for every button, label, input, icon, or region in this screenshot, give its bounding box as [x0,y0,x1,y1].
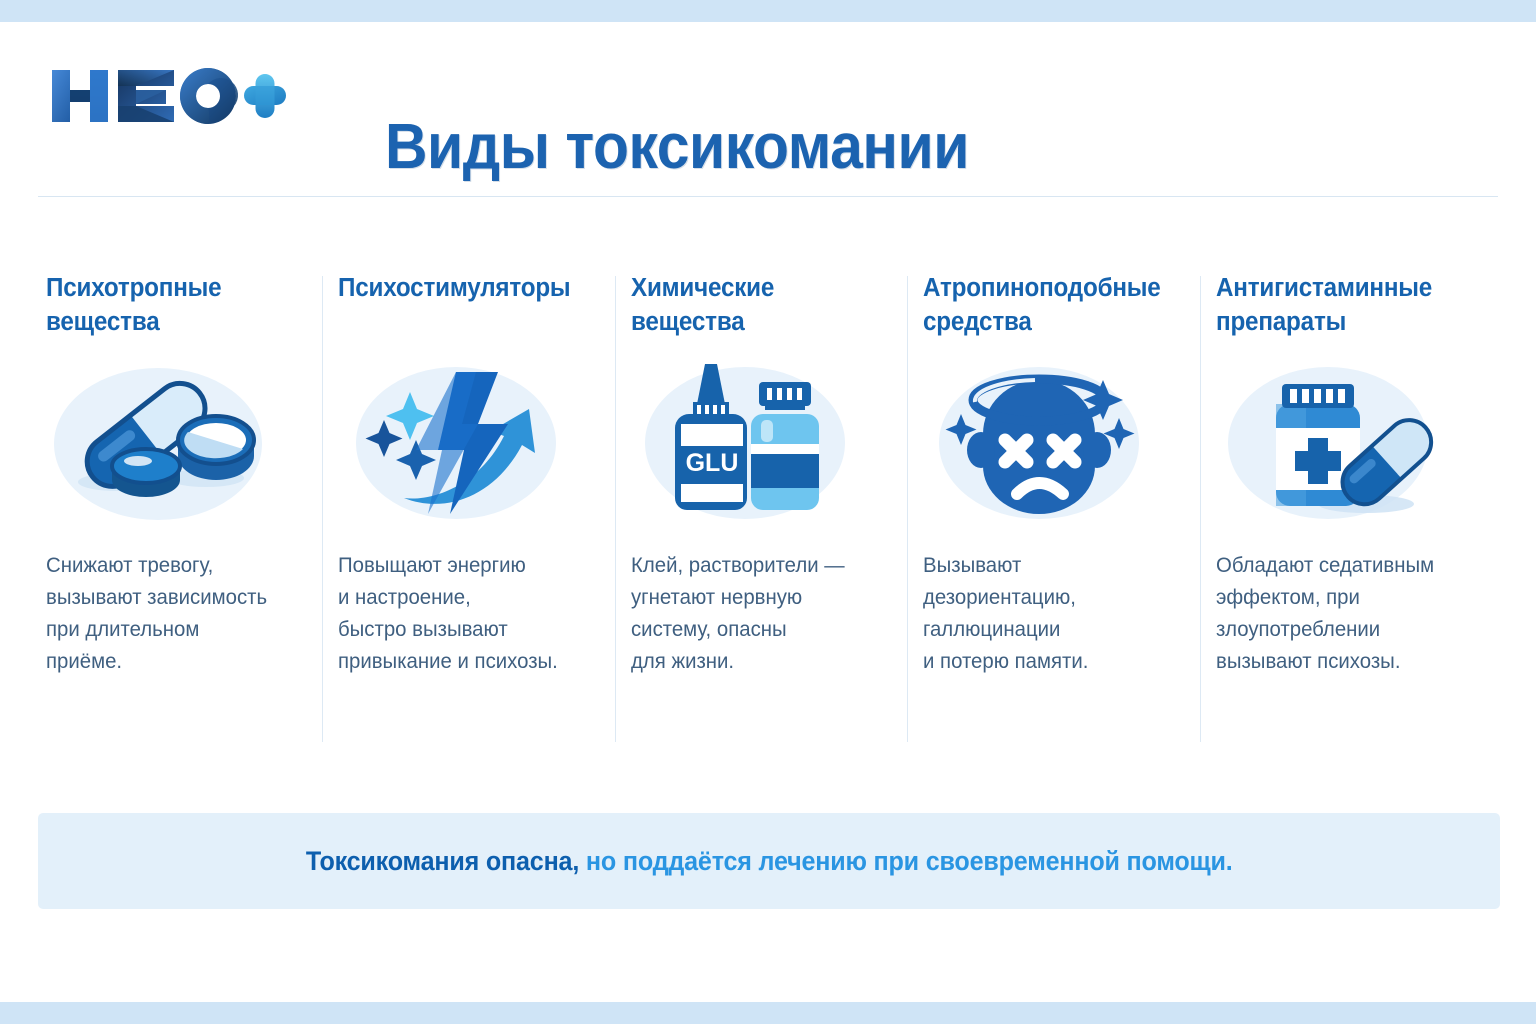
glue-label: GLU [685,449,738,477]
header-divider [38,196,1498,197]
category-title: Химические вещества [631,272,876,342]
page-title: Виды токсикомании [385,113,969,180]
infographic-page: Виды токсикомании Психотропные вещества [0,0,1536,1024]
footer-banner: Токсикомания опасна, но поддаётся лечени… [38,813,1500,909]
dizzy-face-icon [923,358,1181,528]
category-title: Психотропные вещества [46,272,291,342]
category-column-psychotropic: Психотропные вещества [38,272,330,742]
category-column-stimulants: Психостимуляторы Повыщают энергию и наст… [330,272,622,742]
category-column-chemicals: Химические вещества [623,272,915,742]
category-description: Вызывают дезориентацию, галлюцинации и п… [923,550,1174,678]
bottom-decorative-bar [0,1002,1536,1024]
lightning-bolt-arrow-icon [338,358,596,528]
category-description: Повыщают энергию и настроение, быстро вы… [338,550,589,678]
header: Виды токсикомании [0,22,1536,187]
medicine-bottle-capsule-icon [1216,358,1474,528]
category-description: Клей, растворители — угнетают нервную си… [631,550,882,678]
category-column-antihistamines: Антигистаминные препараты [1208,272,1500,742]
category-description: Обладают седативным эффектом, при злоупо… [1216,550,1467,678]
glue-solvent-bottles-icon: GLU [631,358,889,528]
top-decorative-bar [0,0,1536,22]
category-title: Атропиноподобные средства [923,272,1168,342]
category-column-atropine: Атропиноподобные средства [915,272,1207,742]
neo-plus-logo-icon [48,60,288,132]
category-title: Антигистаминные препараты [1216,272,1461,342]
category-description: Снижают тревогу, вызывают зависимость пр… [46,550,297,678]
footer-message: Токсикомания опасна, но поддаётся лечени… [306,846,1233,877]
category-title: Психостимуляторы [338,272,583,342]
footer-message-strong: Токсикомания опасна, [306,846,579,876]
pills-capsule-icon [46,358,304,528]
category-columns: Психотропные вещества [38,272,1500,742]
footer-message-light: но поддаётся лечению при своевременной п… [579,846,1232,876]
